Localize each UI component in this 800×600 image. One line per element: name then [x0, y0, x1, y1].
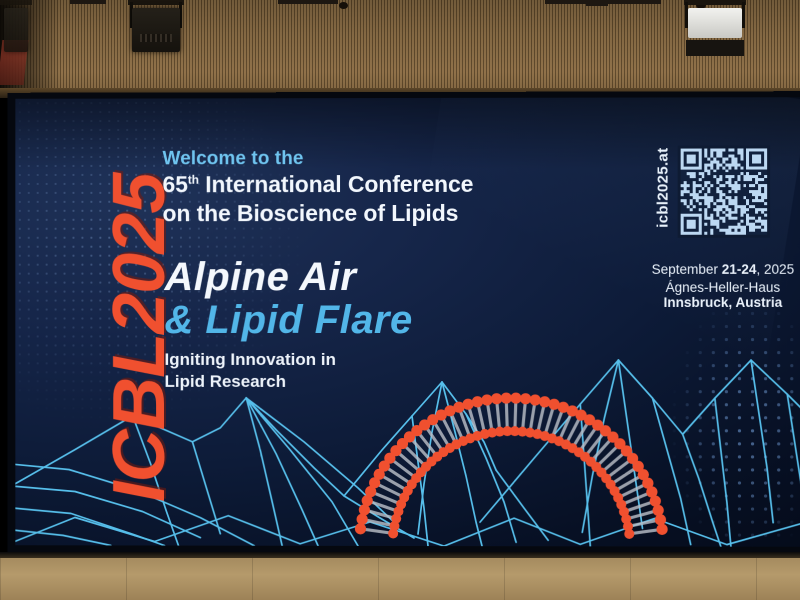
stage-light-dark — [0, 0, 32, 60]
wood-slat-ceiling — [0, 0, 800, 96]
ceiling-slot — [70, 0, 106, 4]
title-line-2: & Lipid Flare — [165, 298, 413, 343]
lamp-body — [4, 8, 28, 52]
lamp-body — [132, 8, 180, 52]
event-city: Innsbruck, Austria — [644, 294, 800, 309]
headline-block: Welcome to the 65th International Confer… — [163, 148, 474, 228]
led-screen-frame: ICBL2025 Welcome to the 65th Internation… — [7, 91, 800, 555]
qr-url-label: icbl2025.at — [655, 148, 672, 228]
title-line-1: Alpine Air — [165, 256, 413, 298]
edition-number: 65 — [163, 171, 188, 197]
lamp-grille — [140, 34, 172, 42]
stage-light-dark — [128, 0, 184, 62]
ceiling-fixture-dot — [339, 2, 348, 9]
main-title-block: Alpine Air & Lipid Flare Igniting Innova… — [165, 256, 413, 392]
event-venue: Ágnes-Heller-Haus — [644, 279, 800, 294]
tagline-line-1: Igniting Innovation in — [165, 349, 413, 371]
stage-light-white — [684, 0, 746, 60]
edition-rest: International Conference — [199, 171, 473, 197]
tagline: Igniting Innovation in Lipid Research — [165, 349, 413, 393]
lamp-mount-bar — [684, 0, 746, 5]
event-days: 21-24 — [722, 262, 757, 277]
lamp-yoke — [742, 2, 745, 28]
headline-edition: 65th International Conference — [163, 170, 474, 199]
ceiling-slot — [278, 0, 338, 4]
lamp-mount-bar — [128, 0, 184, 5]
event-month: September — [652, 262, 722, 277]
qr-block[interactable]: icbl2025.at — [655, 145, 771, 237]
tagline-line-2: Lipid Research — [165, 370, 413, 392]
edition-suffix: th — [188, 173, 199, 187]
headline-subject: on the Bioscience of Lipids — [163, 199, 474, 228]
lamp-body — [688, 8, 742, 38]
wood-panel-wall — [0, 558, 800, 600]
lamp-mount-bar — [0, 0, 32, 5]
led-screen: ICBL2025 Welcome to the 65th Internation… — [15, 97, 800, 547]
conference-hall-photo: ICBL2025 Welcome to the 65th Internation… — [0, 0, 800, 600]
qr-code-icon[interactable] — [678, 145, 771, 237]
lamp-base — [686, 40, 744, 56]
event-dates: September 21-24, 2025 — [644, 260, 800, 280]
headline-welcome: Welcome to the — [163, 148, 474, 170]
event-details: September 21-24, 2025 Ágnes-Heller-Haus … — [644, 260, 800, 310]
ceiling-slot — [586, 0, 608, 6]
event-year: , 2025 — [756, 262, 794, 277]
